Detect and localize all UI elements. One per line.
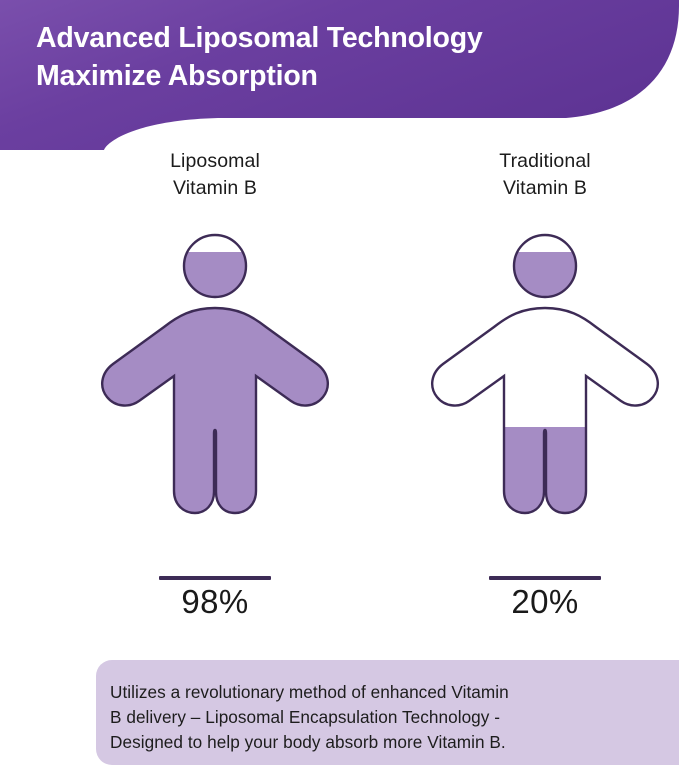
figure-holder-liposomal [70, 226, 360, 576]
page-title-line-1: Advanced Liposomal Technology [36, 20, 636, 58]
column-title-liposomal-line-2: Vitamin B [70, 175, 360, 202]
percent-underline-liposomal [159, 576, 271, 580]
human-figure-icon-traditional [400, 226, 679, 576]
description-line-2: B delivery – Liposomal Encapsulation Tec… [110, 705, 661, 730]
percent-block-liposomal: 98% [70, 576, 360, 621]
comparison-column-liposomal: Liposomal Vitamin B [70, 148, 360, 648]
header-banner: Advanced Liposomal Technology Maximize A… [0, 0, 679, 150]
percent-underline-traditional [489, 576, 601, 580]
figure-fill-level-liposomal [70, 226, 360, 576]
column-title-traditional-line-2: Vitamin B [400, 175, 679, 202]
description-callout: Utilizes a revolutionary method of enhan… [96, 660, 679, 765]
page-title-line-2: Maximize Absorption [36, 58, 636, 96]
page-title: Advanced Liposomal Technology Maximize A… [36, 20, 636, 95]
description-line-3: Designed to help your body absorb more V… [110, 730, 661, 755]
figure-holder-traditional [400, 226, 679, 576]
percent-block-traditional: 20% [400, 576, 679, 621]
column-title-traditional-line-1: Traditional [400, 148, 679, 175]
description-text: Utilizes a revolutionary method of enhan… [110, 680, 661, 754]
column-title-liposomal-line-1: Liposomal [70, 148, 360, 175]
percent-value-traditional: 20% [400, 584, 679, 621]
percent-value-liposomal: 98% [70, 584, 360, 621]
infographic-page: Advanced Liposomal Technology Maximize A… [0, 0, 679, 765]
column-title-traditional: Traditional Vitamin B [400, 148, 679, 201]
comparison-column-traditional: Traditional Vitamin B [400, 148, 679, 648]
description-line-1: Utilizes a revolutionary method of enhan… [110, 680, 661, 705]
human-figure-icon-liposomal [70, 226, 360, 576]
column-title-liposomal: Liposomal Vitamin B [70, 148, 360, 201]
